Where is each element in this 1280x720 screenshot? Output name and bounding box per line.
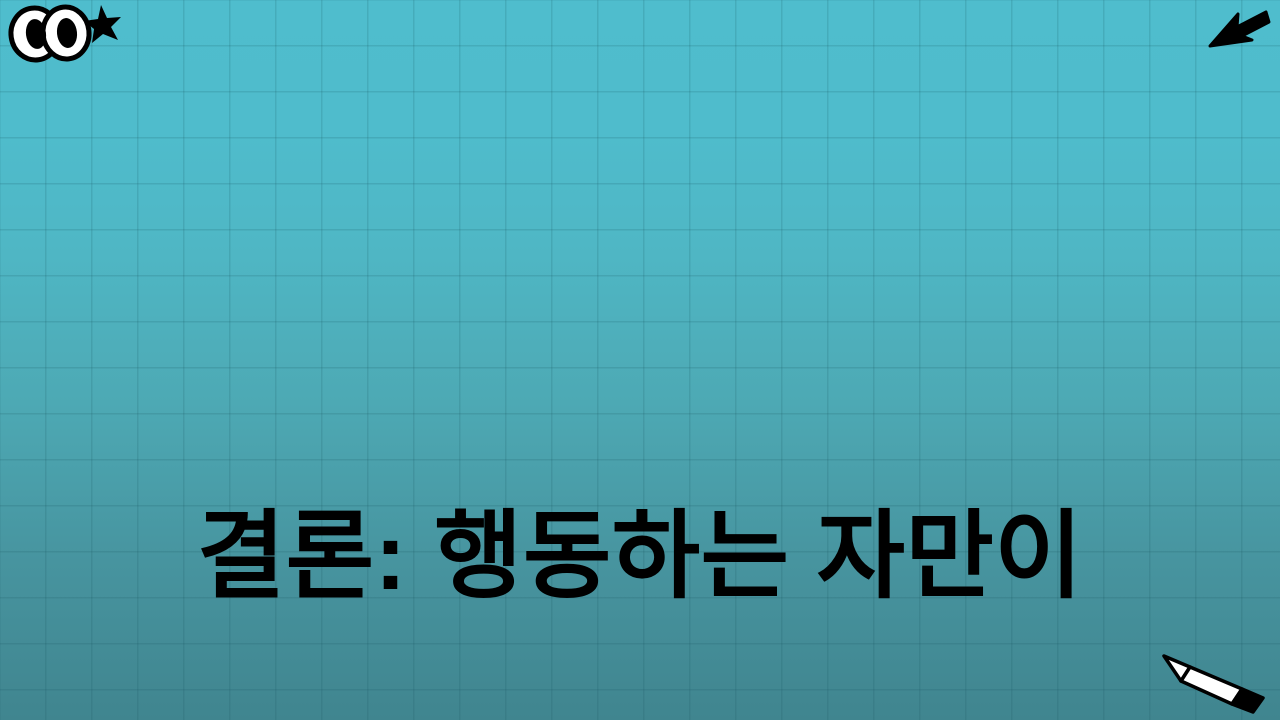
eyes-star-doodle-group <box>6 2 122 64</box>
cursor-arrow-doodle <box>1208 6 1270 52</box>
cursor-arrow-icon <box>1210 12 1269 46</box>
slide-headline: 결론: 행동하는 자만이 여유로운 노후를 즐긴다 <box>0 212 1280 720</box>
googly-eyes-icon <box>8 5 92 63</box>
slide-canvas: 결론: 행동하는 자만이 여유로운 노후를 즐긴다 <box>0 0 1280 720</box>
headline-line-1: 결론: 행동하는 자만이 <box>0 488 1280 626</box>
